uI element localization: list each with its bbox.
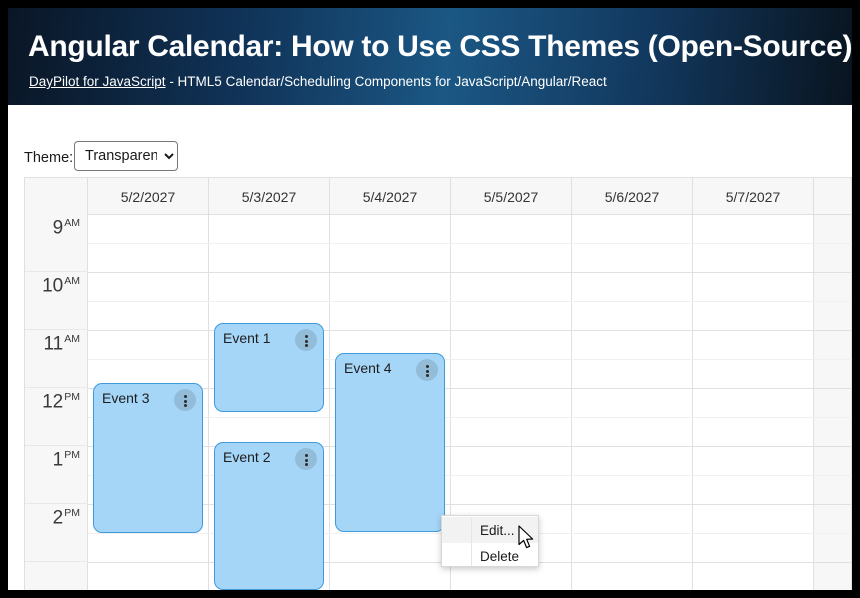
time-meridiem: PM — [64, 391, 80, 403]
column-header-label: 5/3/2027 — [242, 189, 297, 205]
time-hour: 10 — [42, 275, 63, 296]
column-header-label: 5/4/2027 — [363, 189, 418, 205]
time-row-1PM: 1PM — [25, 446, 88, 504]
calendar-header-row: 5/2/20275/3/20275/4/20275/5/20275/6/2027… — [24, 177, 852, 214]
calendar-widget[interactable]: 5/2/20275/3/20275/4/20275/5/20275/6/2027… — [24, 177, 852, 590]
kebab-menu-icon[interactable] — [295, 329, 317, 351]
column-header-6[interactable]: 5/7/2027 — [693, 178, 814, 215]
time-hour: 12 — [42, 391, 63, 412]
theme-select[interactable]: Transparent — [74, 141, 178, 171]
time-label: 2PM — [53, 507, 80, 529]
column-header-4[interactable]: 5/5/2027 — [451, 178, 572, 215]
column-header-label: 5/7/2027 — [726, 189, 781, 205]
time-gutter: 9AM10AM11AM12PM1PM2PM — [24, 214, 88, 590]
time-meridiem: PM — [64, 507, 80, 519]
time-row-10AM: 10AM — [25, 272, 88, 330]
time-meridiem: AM — [64, 275, 80, 287]
column-header-5[interactable]: 5/6/2027 — [572, 178, 693, 215]
half-hour-gridline — [88, 243, 852, 244]
column-header-2[interactable]: 5/3/2027 — [209, 178, 330, 215]
time-row-12PM: 12PM — [25, 388, 88, 446]
event-context-menu[interactable]: Edit...Delete — [441, 515, 539, 567]
event-title: Event 2 — [223, 449, 270, 465]
time-row-11AM: 11AM — [25, 330, 88, 388]
time-label: 10AM — [42, 275, 80, 297]
time-hour: 11 — [44, 333, 64, 354]
theme-toolbar: Theme: Transparent — [8, 105, 852, 177]
event-title: Event 4 — [344, 360, 391, 376]
half-hour-gridline — [88, 301, 852, 302]
calendar-corner-cell — [24, 178, 88, 215]
banner-subtitle-rest: - HTML5 Calendar/Scheduling Components f… — [166, 74, 607, 89]
time-meridiem: AM — [64, 217, 80, 229]
app-frame: Angular Calendar: How to Use CSS Themes … — [8, 8, 852, 590]
context-menu-item-label: Edit... — [480, 523, 515, 538]
time-label: 12PM — [42, 391, 80, 413]
time-label: 1PM — [53, 449, 80, 471]
context-menu-item-label: Delete — [480, 549, 519, 564]
time-meridiem: AM — [64, 333, 80, 345]
calendar-event[interactable]: Event 4 — [335, 353, 445, 532]
context-menu-item-delete[interactable]: Delete — [442, 543, 538, 569]
kebab-menu-icon[interactable] — [174, 389, 196, 411]
kebab-menu-icon[interactable] — [295, 448, 317, 470]
calendar-event[interactable]: Event 3 — [93, 383, 203, 533]
page-banner: Angular Calendar: How to Use CSS Themes … — [8, 8, 852, 105]
time-row-9AM: 9AM — [25, 214, 88, 272]
column-header-7[interactable] — [814, 178, 852, 215]
column-header-1[interactable]: 5/2/2027 — [88, 178, 209, 215]
time-row-2PM: 2PM — [25, 504, 88, 562]
event-title: Event 3 — [102, 390, 149, 406]
page-title: Angular Calendar: How to Use CSS Themes … — [28, 30, 852, 64]
column-header-3[interactable]: 5/4/2027 — [330, 178, 451, 215]
time-hour: 1 — [53, 449, 64, 470]
context-menu-item-edit[interactable]: Edit... — [442, 517, 538, 543]
daypilot-link[interactable]: DayPilot for JavaScript — [29, 74, 166, 89]
calendar-event[interactable]: Event 2 — [214, 442, 324, 590]
calendar-event[interactable]: Event 1 — [214, 323, 324, 412]
half-hour-gridline — [88, 359, 852, 360]
time-meridiem: PM — [64, 449, 80, 461]
event-title: Event 1 — [223, 330, 270, 346]
time-label: 11AM — [44, 333, 80, 355]
time-hour: 2 — [53, 507, 64, 528]
column-header-label: 5/5/2027 — [484, 189, 539, 205]
hour-gridline — [88, 272, 852, 273]
hour-gridline — [88, 330, 852, 331]
column-header-label: 5/6/2027 — [605, 189, 660, 205]
time-label: 9AM — [53, 217, 80, 239]
time-hour: 9 — [53, 217, 64, 238]
kebab-menu-icon[interactable] — [416, 359, 438, 381]
column-header-label: 5/2/2027 — [121, 189, 176, 205]
hour-gridline — [88, 214, 852, 215]
banner-subtitle: DayPilot for JavaScript - HTML5 Calendar… — [29, 74, 607, 89]
theme-label: Theme: — [24, 150, 73, 166]
